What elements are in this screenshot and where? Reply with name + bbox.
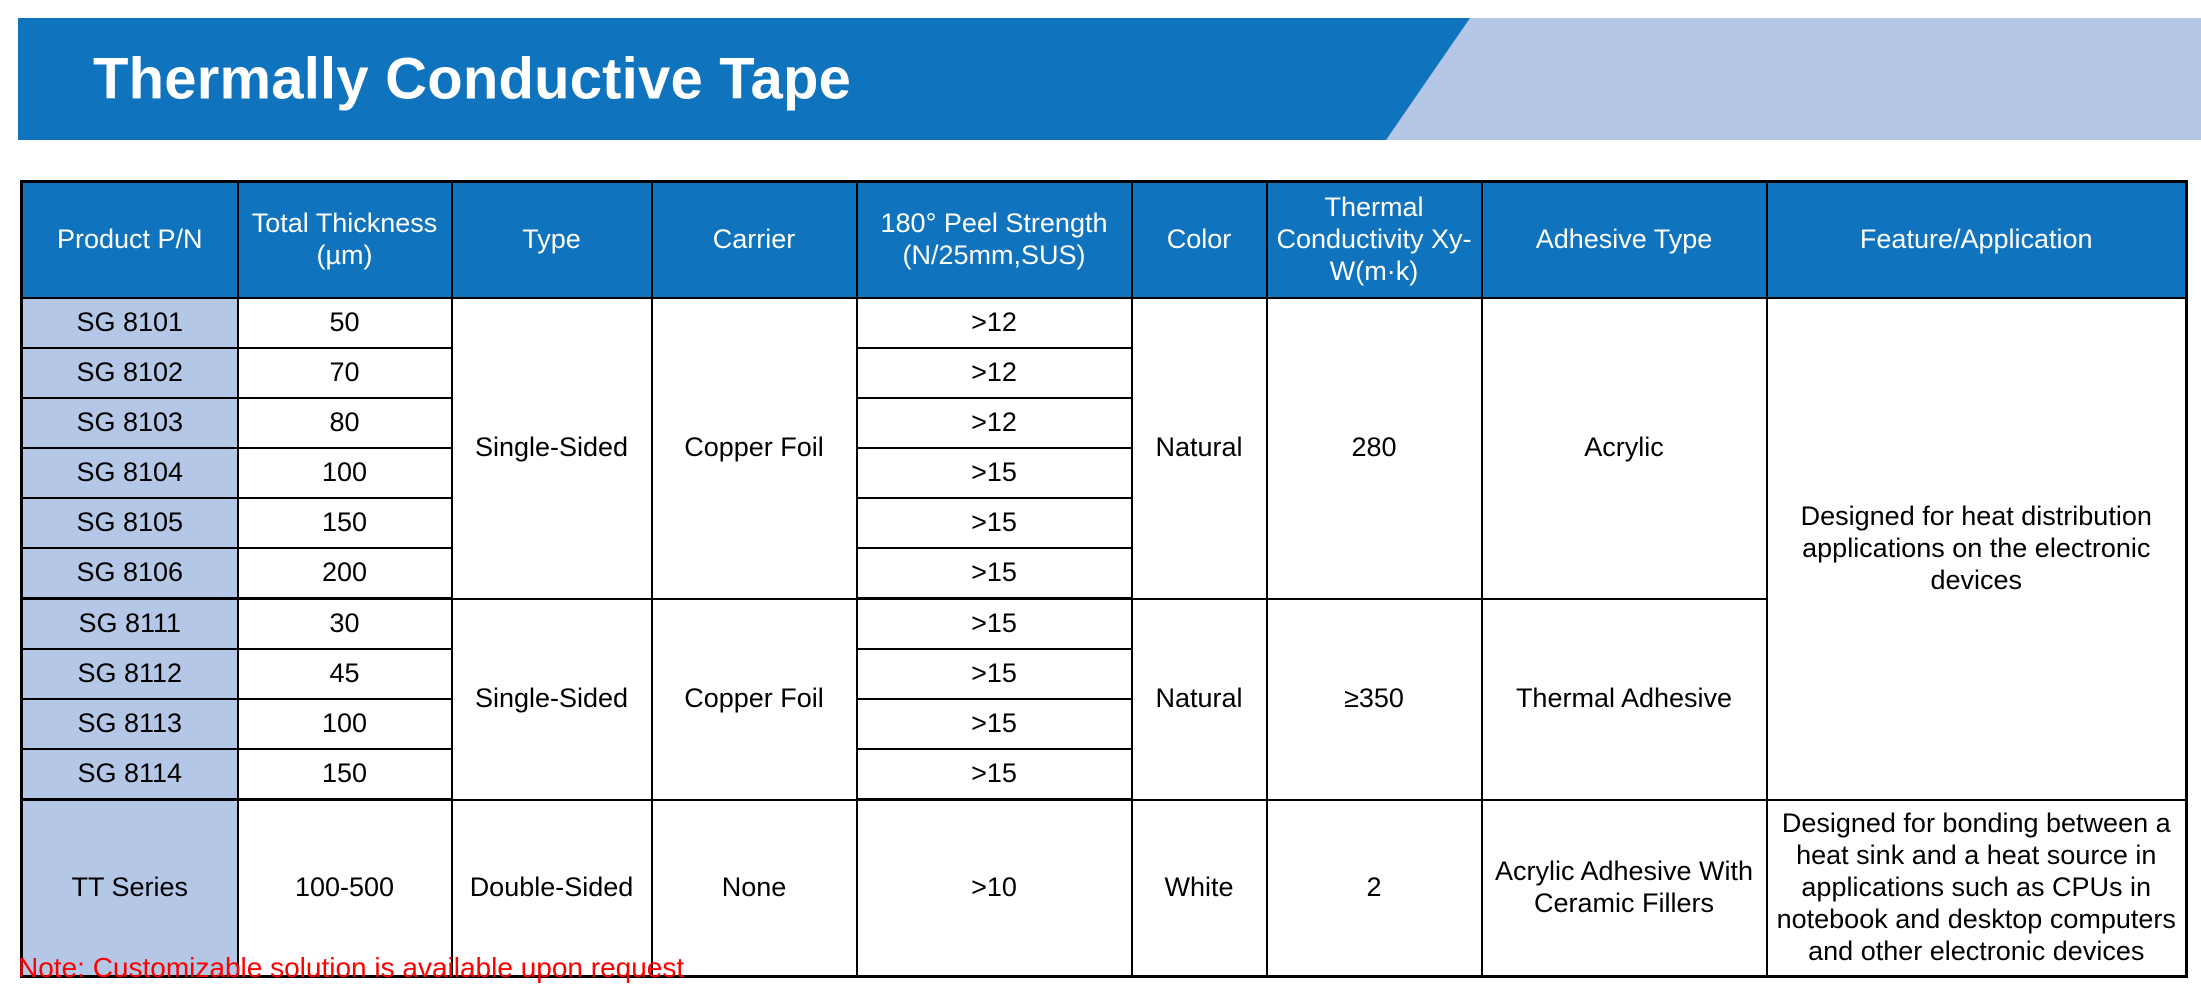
- cell-total-thickness: 100: [238, 699, 452, 749]
- cell-type: Single-Sided: [452, 599, 652, 800]
- cell-adhesive-type: Acrylic: [1482, 298, 1767, 599]
- cell-peel-strength: >15: [857, 599, 1132, 650]
- cell-thermal-conductivity: 2: [1267, 800, 1482, 977]
- cell-product-pn: SG 8111: [22, 599, 238, 650]
- cell-total-thickness: 150: [238, 749, 452, 800]
- cell-total-thickness: 50: [238, 298, 452, 348]
- banner-main-shape: Thermally Conductive Tape: [18, 18, 1470, 140]
- cell-color: Natural: [1132, 298, 1267, 599]
- cell-total-thickness: 200: [238, 548, 452, 599]
- cell-feature-application: Designed for bonding between a heat sink…: [1767, 800, 2187, 977]
- column-header-peel-strength: 180° Peel Strength (N/25mm,SUS): [857, 182, 1132, 299]
- cell-product-pn: SG 8104: [22, 448, 238, 498]
- cell-peel-strength: >12: [857, 348, 1132, 398]
- cell-total-thickness: 45: [238, 649, 452, 699]
- table-body: SG 810150Single-SidedCopper Foil>12Natur…: [22, 298, 2187, 977]
- cell-thermal-conductivity: ≥350: [1267, 599, 1482, 800]
- column-header-product-pn: Product P/N: [22, 182, 238, 299]
- cell-product-pn: SG 8113: [22, 699, 238, 749]
- cell-product-pn: SG 8114: [22, 749, 238, 800]
- cell-adhesive-type: Thermal Adhesive: [1482, 599, 1767, 800]
- table-row: SG 810150Single-SidedCopper Foil>12Natur…: [22, 298, 2187, 348]
- column-header-adhesive-type: Adhesive Type: [1482, 182, 1767, 299]
- cell-peel-strength: >15: [857, 448, 1132, 498]
- column-header-color: Color: [1132, 182, 1267, 299]
- column-header-feature-application: Feature/Application: [1767, 182, 2187, 299]
- page-header-banner: Thermally Conductive Tape: [0, 18, 2201, 140]
- cell-total-thickness: 100-500: [238, 800, 452, 977]
- cell-adhesive-type: Acrylic Adhesive With Ceramic Fillers: [1482, 800, 1767, 977]
- cell-carrier: Copper Foil: [652, 599, 857, 800]
- cell-product-pn: SG 8103: [22, 398, 238, 448]
- cell-total-thickness: 150: [238, 498, 452, 548]
- note-text: Note: Customizable solution is available…: [18, 952, 684, 984]
- cell-total-thickness: 70: [238, 348, 452, 398]
- column-header-thermal-conductivity: Thermal Conductivity Xy-W(m·k): [1267, 182, 1482, 299]
- cell-feature-application: Designed for heat distribution applicati…: [1767, 298, 2187, 800]
- cell-peel-strength: >15: [857, 649, 1132, 699]
- cell-peel-strength: >12: [857, 398, 1132, 448]
- cell-total-thickness: 100: [238, 448, 452, 498]
- product-spec-table: Product P/N Total Thickness (µm) Type Ca…: [20, 180, 2188, 978]
- cell-product-pn: SG 8106: [22, 548, 238, 599]
- banner-accent-shape: [1380, 18, 2201, 140]
- page-title: Thermally Conductive Tape: [93, 46, 851, 113]
- cell-thermal-conductivity: 280: [1267, 298, 1482, 599]
- cell-total-thickness: 30: [238, 599, 452, 650]
- cell-product-pn: SG 8112: [22, 649, 238, 699]
- cell-peel-strength: >12: [857, 298, 1132, 348]
- cell-carrier: None: [652, 800, 857, 977]
- table-header-row: Product P/N Total Thickness (µm) Type Ca…: [22, 182, 2187, 299]
- cell-peel-strength: >15: [857, 699, 1132, 749]
- cell-total-thickness: 80: [238, 398, 452, 448]
- cell-peel-strength: >10: [857, 800, 1132, 977]
- column-header-type: Type: [452, 182, 652, 299]
- column-header-carrier: Carrier: [652, 182, 857, 299]
- cell-product-pn: SG 8101: [22, 298, 238, 348]
- cell-peel-strength: >15: [857, 749, 1132, 800]
- cell-color: White: [1132, 800, 1267, 977]
- cell-peel-strength: >15: [857, 548, 1132, 599]
- table-row: TT Series100-500Double-SidedNone>10White…: [22, 800, 2187, 977]
- spec-table-container: Product P/N Total Thickness (µm) Type Ca…: [20, 180, 2185, 978]
- cell-type: Single-Sided: [452, 298, 652, 599]
- cell-peel-strength: >15: [857, 498, 1132, 548]
- cell-product-pn: SG 8105: [22, 498, 238, 548]
- cell-product-pn: SG 8102: [22, 348, 238, 398]
- cell-color: Natural: [1132, 599, 1267, 800]
- cell-carrier: Copper Foil: [652, 298, 857, 599]
- cell-type: Double-Sided: [452, 800, 652, 977]
- cell-product-pn: TT Series: [22, 800, 238, 977]
- column-header-total-thickness: Total Thickness (µm): [238, 182, 452, 299]
